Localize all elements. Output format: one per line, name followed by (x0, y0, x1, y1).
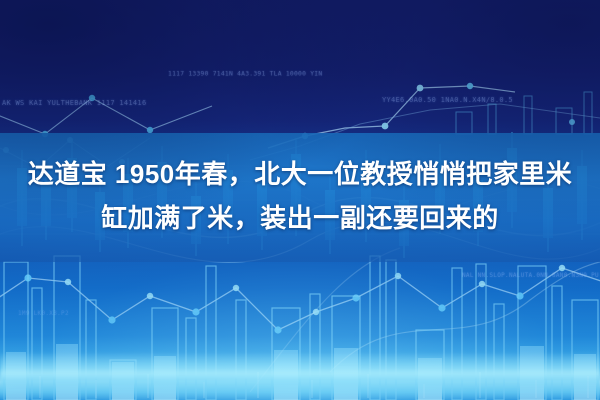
banner-headline: 达道宝 1950年春，北大一位教授悄悄把家里米 缸加满了米，装出一副还要回来的 (0, 152, 600, 240)
watermark-text: YY4E6.0A0.50 1NA0.N.X4N/8.0.5 (382, 96, 513, 104)
headline-line-2: 缸加满了米，装出一副还要回来的 (0, 196, 600, 240)
bar-chart-glow-fills (6, 344, 596, 400)
promo-banner: AK WS KAI YULTHEBANK 1117 141416 1117 13… (0, 0, 600, 400)
watermark-text: AK WS KAI YULTHEBANK 1117 141416 (2, 99, 146, 107)
watermark-text: NAL NN.SLOP.NALUTA.0NN.8AN0.N3N0.PU (462, 272, 599, 279)
watermark-text: 1M9 LK0.X3.P2 (18, 310, 69, 317)
upper-right-polyline (250, 83, 600, 160)
headline-line-1: 达道宝 1950年春，北大一位教授悄悄把家里米 (0, 152, 600, 196)
watermark-text: 1117 13390 7141N 4A3.391 TLA 10000 YIN (168, 70, 322, 77)
